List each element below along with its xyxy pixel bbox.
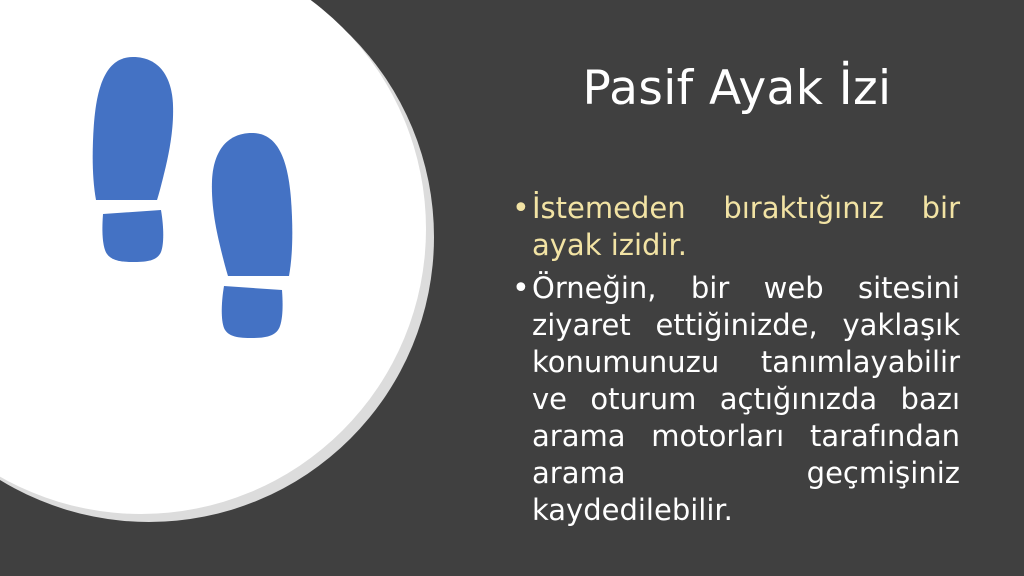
page-title: Pasif Ayak İzi [492,62,982,116]
footprints-icon [0,0,420,420]
bullet-text: İstemeden bıraktığınız bir ayak izidir. [532,190,960,264]
footprint-right-heel [222,286,283,338]
bullet-text: Örneğin, bir web sitesini ziyaret ettiği… [532,270,960,529]
bullet-list: • İstemeden bıraktığınız bir ayak izidir… [512,190,960,535]
bullet-marker-icon: • [512,270,532,307]
slide-canvas: Pasif Ayak İzi • İstemeden bıraktığınız … [0,0,1024,576]
bullet-marker-icon: • [512,190,532,227]
footprint-left-sole [93,57,173,200]
list-item: • Örneğin, bir web sitesini ziyaret etti… [512,270,960,529]
list-item: • İstemeden bıraktığınız bir ayak izidir… [512,190,960,264]
footprint-left-heel [102,210,163,262]
footprint-right-sole [212,133,292,276]
